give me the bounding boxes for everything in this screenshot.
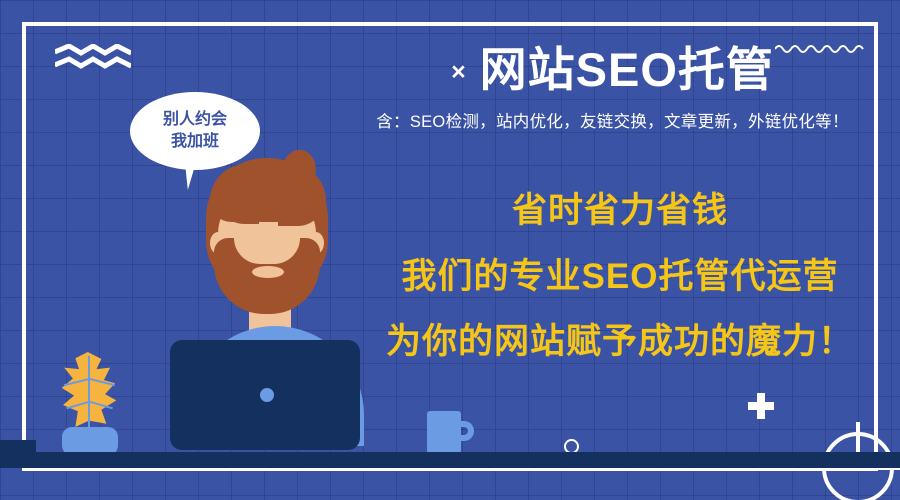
seo-promo-banner: × 网站SEO托管 含：SEO检测，站内优化，友链交换，文章更新，外链优化等！ … <box>0 0 900 500</box>
speech-bubble-line-1: 别人约会 <box>163 109 227 131</box>
slogan-line-1: 省时省力省钱 <box>360 193 880 228</box>
title-row: × 网站SEO托管 <box>340 44 885 96</box>
subtitle-text: 含：SEO检测，站内优化，友链交换，文章更新，外链优化等！ <box>340 108 885 132</box>
slogan-line-3: 为你的网站赋予成功的魔力！ <box>360 324 880 359</box>
mouth <box>252 266 284 278</box>
x-mark-icon: × <box>451 60 466 85</box>
desk-surface <box>0 452 900 468</box>
desk-edge-line <box>22 468 878 471</box>
desk-side-strip <box>0 440 36 452</box>
slogan-line-2: 我们的专业SEO托管代运营 <box>360 259 880 294</box>
slogan-block: 省时省力省钱 我们的专业SEO托管代运营 为你的网站赋予成功的魔力！ <box>360 193 880 359</box>
laptop-logo-dot <box>260 388 274 402</box>
plant-stem <box>88 356 90 434</box>
headline-block: × 网站SEO托管 含：SEO检测，站内优化，友链交换，文章更新，外链优化等！ <box>340 44 885 132</box>
page-title: 网站SEO托管 <box>480 44 774 96</box>
